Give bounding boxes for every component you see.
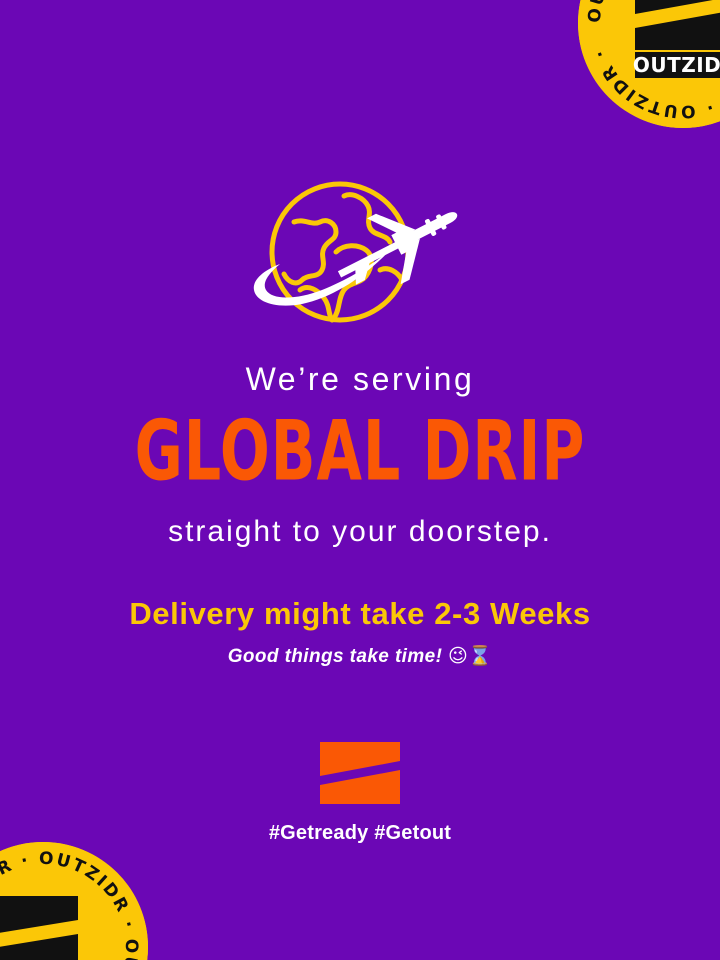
brand-badge-top-right: OUTZIDR · OUTZIDR · OUTZIDR · OUTZIDR · …	[578, 0, 720, 128]
brand-badge-bottom-left: OUTZIDR · OUTZIDR · OUTZIDR · OUTZIDR · …	[0, 842, 148, 960]
promo-poster: OUTZIDR · OUTZIDR · OUTZIDR · OUTZIDR · …	[0, 0, 720, 960]
poster-copy-block: We’re serving GLOBAL DRIP straight to yo…	[0, 362, 720, 668]
tagline-text: Good things take time!	[228, 646, 443, 667]
outzidr-z-logo-icon	[320, 742, 400, 804]
tagline: Good things take time! 😉⌛	[0, 646, 720, 668]
svg-text:OUTZIDR: OUTZIDR	[633, 53, 720, 77]
wink-hourglass-emoji: 😉⌛	[448, 645, 492, 667]
outzidr-z-logo-icon: OUTZIDR	[633, 0, 720, 78]
eyebrow-text: We’re serving	[0, 362, 720, 397]
page-title: GLOBAL DRIP	[14, 411, 705, 494]
delivery-notice: Delivery might take 2-3 Weeks	[0, 597, 720, 631]
footer-lockup: #Getready #Getout	[0, 742, 720, 845]
global-shipping-illustration	[240, 178, 480, 343]
subhead-text: straight to your doorstep.	[0, 515, 720, 548]
outzidr-z-logo-icon: OUTZIDR	[0, 896, 84, 960]
